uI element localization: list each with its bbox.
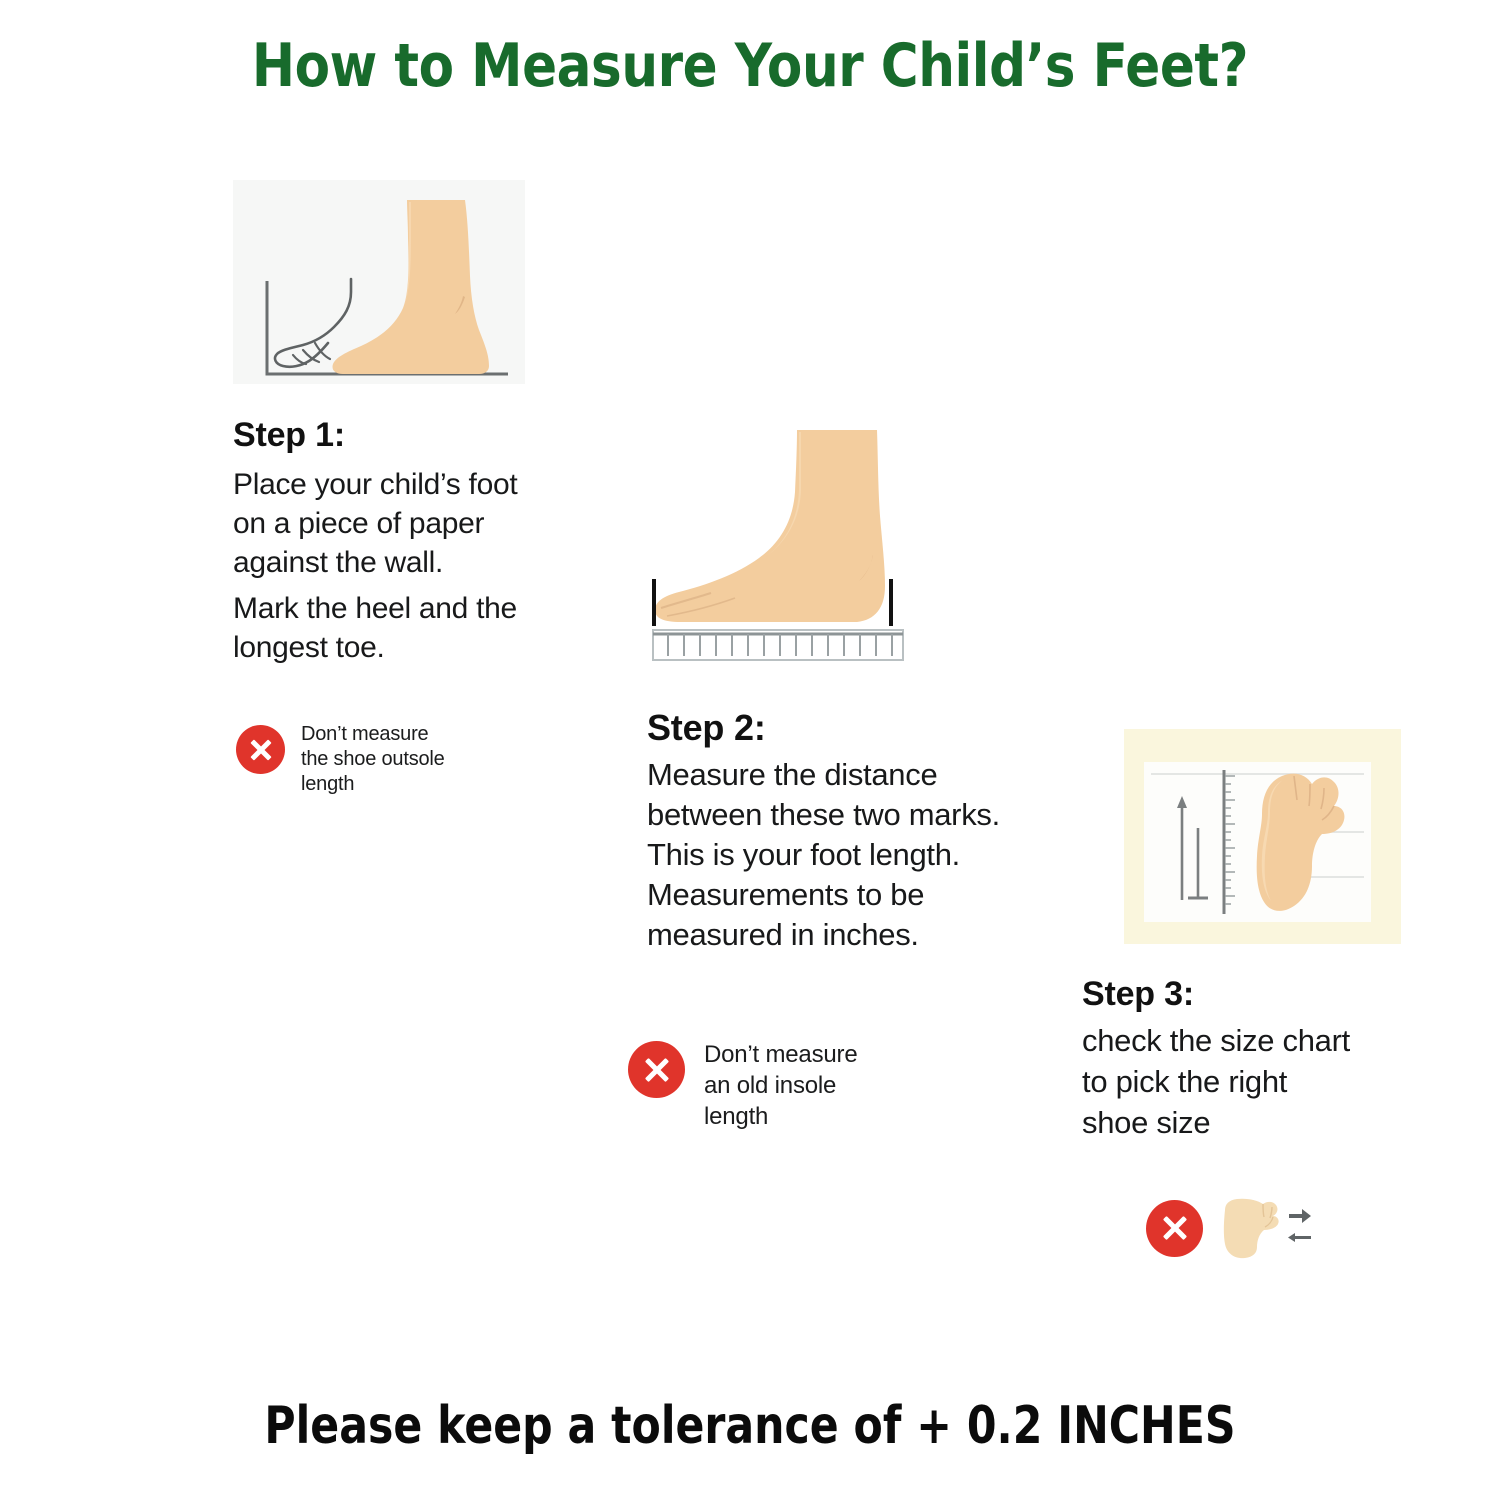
step-3-line-1: check the size chart [1082, 1020, 1432, 1061]
foot-side-view-against-wall-graphic [233, 180, 525, 384]
step-1-heading: Step 1: [233, 413, 563, 457]
step-2-body: Measure the distance between these two m… [647, 755, 1087, 955]
step-1-warning-line-1: Don’t measure [301, 722, 445, 747]
step-1-body: Place your child’s foot on a piece of pa… [233, 465, 563, 667]
step-3-body: check the size chart to pick the right s… [1082, 1020, 1432, 1143]
arrow-right-icon [1289, 1209, 1311, 1223]
step-1-warning-text: Don’t measure the shoe outsole length [301, 722, 445, 797]
infographic-root: How to Measure Your Child’s Feet? Step 1… [0, 0, 1500, 1496]
step-3-text-block: Step 3: check the size chart to pick the… [1082, 972, 1432, 1143]
step-1-line-5: longest toe. [233, 628, 563, 667]
step-1-warning-badge: Don’t measure the shoe outsole length [236, 722, 445, 797]
step-2-illustration [645, 424, 935, 664]
foot-side-view-on-ruler-graphic [645, 424, 935, 664]
step-3-line-3: shoe size [1082, 1102, 1432, 1143]
step-2-heading: Step 2: [647, 705, 1087, 751]
foot-sole-with-arrows-icon [1219, 1196, 1314, 1260]
step-3-chart-panel [1144, 762, 1371, 922]
red-x-circle-icon [628, 1041, 685, 1098]
step-2-line-1: Measure the distance [647, 755, 1087, 795]
step-1-warning-line-3: length [301, 772, 445, 797]
step-2-line-5: measured in inches. [647, 915, 1087, 955]
step-2-line-3: This is your foot length. [647, 835, 1087, 875]
step-2-line-2: between these two marks. [647, 795, 1087, 835]
step-1-line-4: Mark the heel and the [233, 589, 563, 628]
step-3-heading: Step 3: [1082, 972, 1432, 1016]
foot-sole-shape [1257, 774, 1345, 911]
step-1-illustration [233, 180, 525, 384]
step-2-warning-line-1: Don’t measure [704, 1039, 857, 1070]
step-1-warning-line-2: the shoe outsole [301, 747, 445, 772]
step-1-text-block: Step 1: Place your child’s foot on a pie… [233, 413, 563, 667]
tolerance-note: Please keep a tolerance of + 0.2 INCHES [135, 1395, 1365, 1457]
foot-sole-measuring-chart-graphic [1144, 762, 1371, 922]
step-2-warning-text: Don’t measure an old insole length [704, 1039, 857, 1132]
step-1-line-1: Place your child’s foot [233, 465, 563, 504]
step-1-line-2: on a piece of paper [233, 504, 563, 543]
step-1-line-3: against the wall. [233, 543, 563, 582]
step-2-line-4: Measurements to be [647, 875, 1087, 915]
step-2-warning-line-3: length [704, 1101, 857, 1132]
arrow-up-long-icon [1177, 796, 1187, 900]
step-3-illustration [1124, 729, 1401, 944]
step-3-line-2: to pick the right [1082, 1061, 1432, 1102]
foot-sole-icon [1224, 1199, 1279, 1258]
red-x-circle-icon [236, 725, 285, 774]
page-title: How to Measure Your Child’s Feet? [105, 30, 1395, 102]
step-2-text-block: Step 2: Measure the distance between the… [647, 705, 1087, 955]
vertical-ruler [1224, 770, 1235, 914]
measure-bar-icon [1188, 828, 1208, 898]
red-x-circle-icon [1146, 1200, 1203, 1257]
arrow-left-icon [1288, 1233, 1311, 1242]
step-3-warning-badge [1146, 1196, 1314, 1260]
step-2-warning-line-2: an old insole [704, 1070, 857, 1101]
step-2-warning-badge: Don’t measure an old insole length [628, 1039, 857, 1132]
